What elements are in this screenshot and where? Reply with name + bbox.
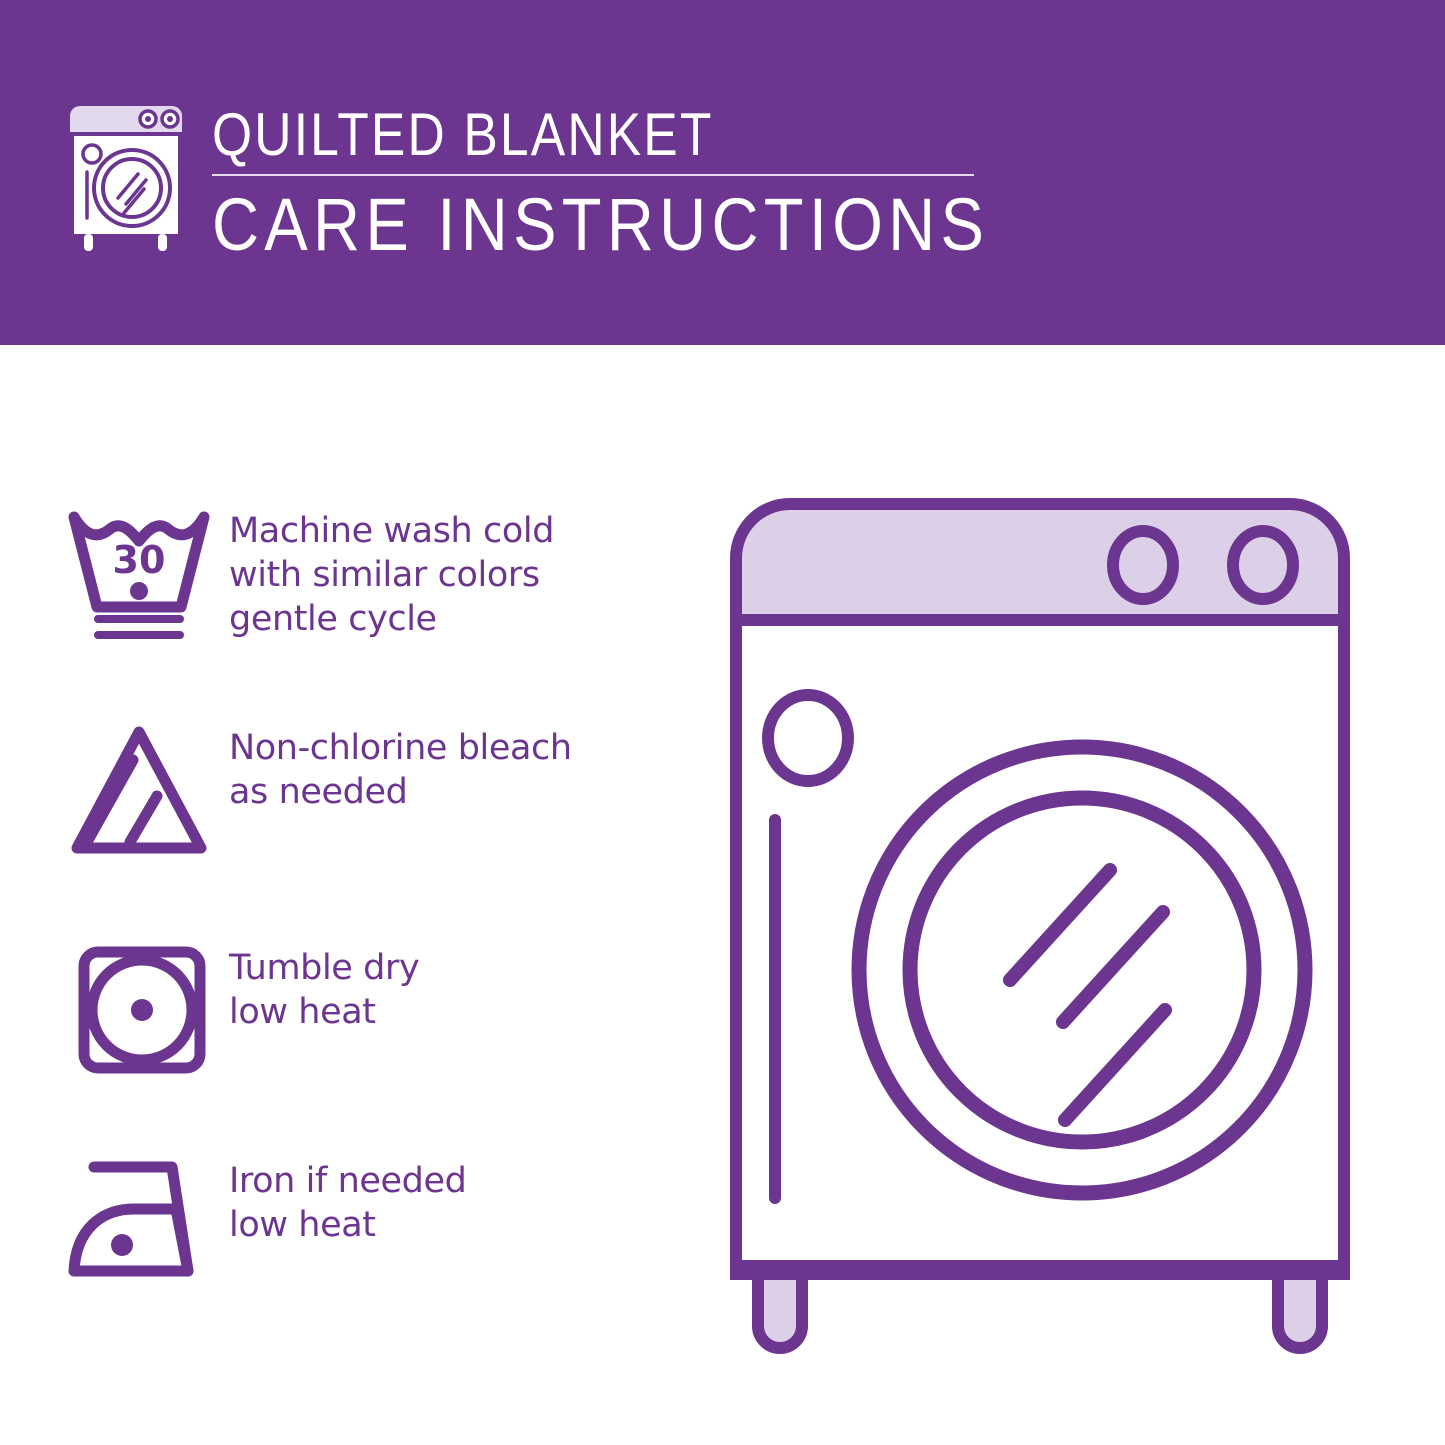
care-instruction-list: 30 Machine wash cold with similar colors… (0, 345, 700, 1445)
care-row-tumble-dry: Tumble dry low heat (64, 940, 684, 1080)
base-bar (730, 1260, 1350, 1274)
knob-right (1233, 531, 1293, 599)
care-row-bleach: Non-chlorine bleach as needed (64, 720, 684, 860)
care-row-iron: Iron if needed low heat (64, 1153, 684, 1293)
iron-low-heat-icon (64, 1153, 229, 1293)
care-instructions-infographic: QUILTED BLANKET CARE INSTRUCTIONS 30 (0, 0, 1445, 1445)
wash-tub-30-icon: 30 (64, 503, 229, 643)
header-banner: QUILTED BLANKET CARE INSTRUCTIONS (0, 0, 1445, 345)
care-text-tumble-dry: Tumble dry low heat (229, 940, 419, 1034)
wash-temperature-label: 30 (113, 538, 166, 582)
care-text-bleach: Non-chlorine bleach as needed (229, 720, 572, 814)
tumble-dry-low-icon (64, 940, 229, 1080)
care-text-wash: Machine wash cold with similar colors ge… (229, 503, 554, 641)
care-row-wash: 30 Machine wash cold with similar colors… (64, 503, 684, 643)
care-text-iron: Iron if needed low heat (229, 1153, 466, 1247)
header-title-group: QUILTED BLANKET CARE INSTRUCTIONS (212, 104, 1012, 263)
title-divider (212, 174, 974, 176)
washing-machine-illustration (710, 470, 1400, 1380)
washing-machine-icon (62, 100, 190, 260)
page-title: QUILTED BLANKET (212, 104, 900, 166)
knob-left (1113, 531, 1173, 599)
page-subtitle: CARE INSTRUCTIONS (212, 187, 916, 263)
non-chlorine-bleach-triangle-icon (64, 720, 229, 860)
